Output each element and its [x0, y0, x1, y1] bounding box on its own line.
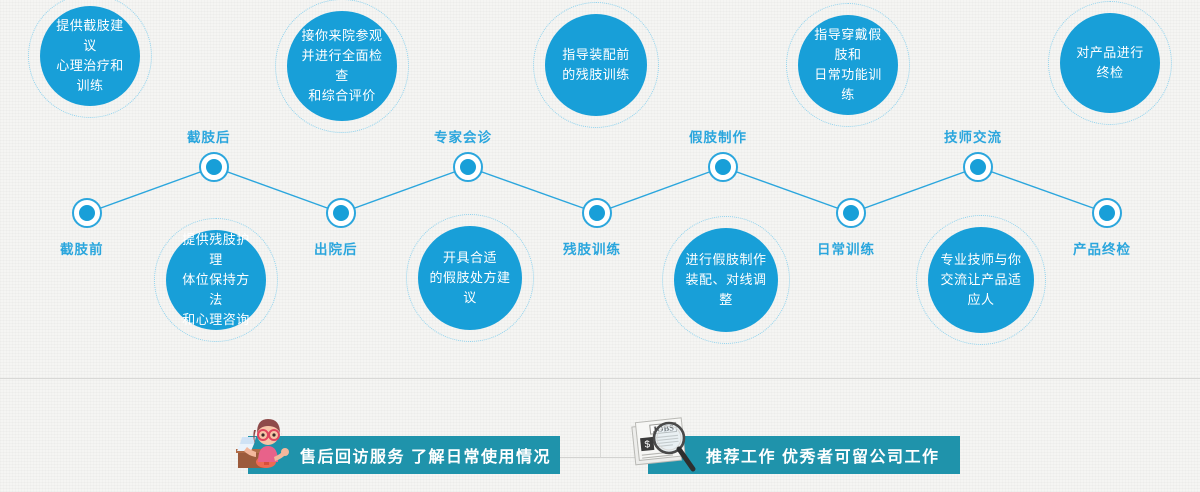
- detail-bubble-text: 提供残肢护理 体位保持方法 和心理咨询: [166, 230, 266, 331]
- cta-banner-text: 推荐工作 优秀者可留公司工作: [706, 443, 939, 467]
- detail-bubble: 提供残肢护理 体位保持方法 和心理咨询: [166, 230, 266, 330]
- detail-bubble-text: 指导装配前 的残肢训练: [552, 45, 640, 85]
- detail-bubble-text: 专业技师与你 交流让产品适应人: [928, 250, 1034, 310]
- detail-bubble: 指导穿戴假肢和 日常功能训练: [798, 15, 898, 115]
- milestone-label: 截肢前: [60, 238, 104, 258]
- milestone-node[interactable]: [72, 198, 102, 228]
- woman-at-desk-icon: [230, 412, 292, 474]
- detail-bubble-text: 对产品进行终检: [1060, 43, 1160, 83]
- infographic-canvas: 提供截肢建议 心理治疗和训练提供残肢护理 体位保持方法 和心理咨询接你来院参观 …: [0, 0, 1200, 492]
- milestone-node[interactable]: [199, 152, 229, 182]
- section-divider-vertical: [600, 379, 601, 457]
- milestone-label: 日常训练: [817, 238, 875, 258]
- newspaper-magnifier-icon: JOBS $: [628, 414, 700, 481]
- detail-bubble: 开具合适 的假肢处方建议: [418, 226, 522, 330]
- detail-bubble: 提供截肢建议 心理治疗和训练: [40, 6, 140, 106]
- milestone-label: 残肢训练: [563, 238, 621, 258]
- milestone-node[interactable]: [836, 198, 866, 228]
- milestone-node[interactable]: [582, 198, 612, 228]
- milestone-label: 专家会诊: [434, 126, 492, 146]
- detail-bubble: 对产品进行终检: [1060, 13, 1160, 113]
- detail-bubble-text: 提供截肢建议 心理治疗和训练: [40, 16, 140, 97]
- detail-bubble: 进行假肢制作 装配、对线调整: [674, 228, 778, 332]
- milestone-label: 假肢制作: [689, 126, 747, 146]
- newspaper-magnifier-icon: JOBS $: [628, 414, 700, 476]
- detail-bubble: 专业技师与你 交流让产品适应人: [928, 227, 1034, 333]
- cta-banner-text: 售后回访服务 了解日常使用情况: [300, 443, 551, 467]
- milestone-label: 截肢后: [187, 126, 231, 146]
- milestone-node[interactable]: [1092, 198, 1122, 228]
- milestone-node[interactable]: [326, 198, 356, 228]
- detail-bubble-text: 指导穿戴假肢和 日常功能训练: [798, 25, 898, 106]
- detail-bubble-text: 接你来院参观 并进行全面检查 和综合评价: [287, 26, 397, 107]
- detail-bubble-text: 开具合适 的假肢处方建议: [418, 248, 522, 308]
- milestone-node[interactable]: [708, 152, 738, 182]
- detail-bubble-text: 进行假肢制作 装配、对线调整: [674, 250, 778, 310]
- milestone-label: 技师交流: [944, 126, 1002, 146]
- milestone-label: 出院后: [314, 238, 358, 258]
- detail-bubble: 指导装配前 的残肢训练: [545, 14, 647, 116]
- milestone-node[interactable]: [453, 152, 483, 182]
- milestone-label: 产品终检: [1073, 238, 1131, 258]
- detail-bubble: 接你来院参观 并进行全面检查 和综合评价: [287, 11, 397, 121]
- cta-banner[interactable]: 售后回访服务 了解日常使用情况: [248, 436, 560, 474]
- woman-at-desk-icon: [230, 412, 292, 479]
- milestone-node[interactable]: [963, 152, 993, 182]
